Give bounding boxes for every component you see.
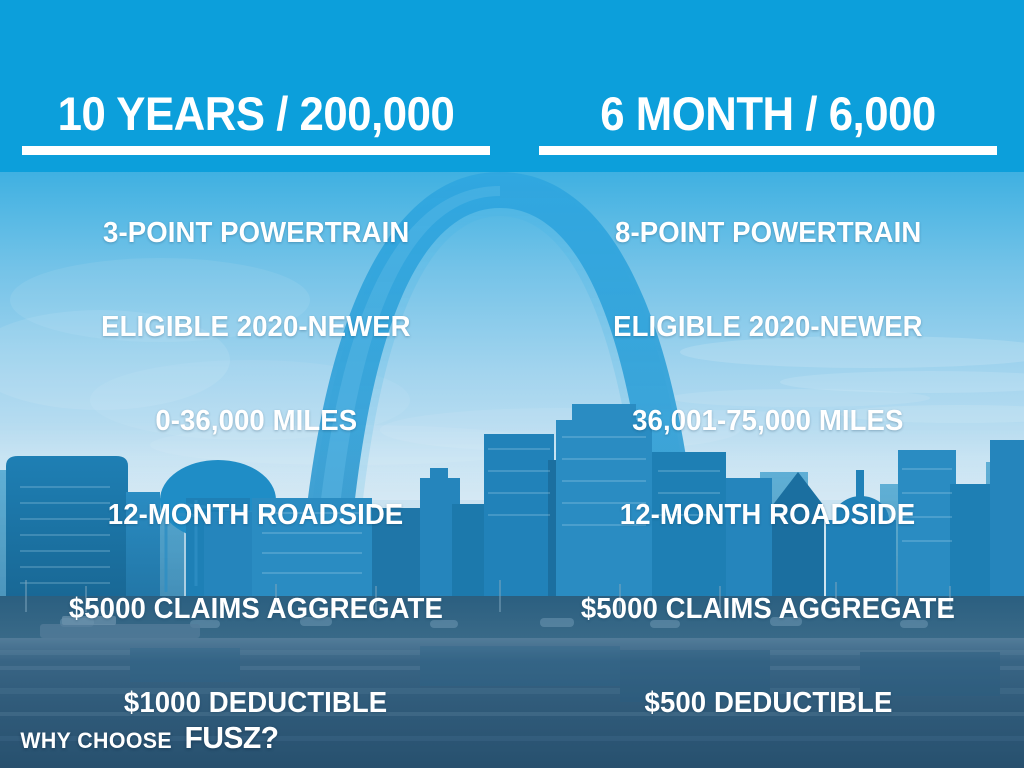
plan-heading-text: 10 YEARS / 200,000 — [18, 88, 494, 140]
feature-text: $1000 DEDUCTIBLE — [124, 687, 387, 720]
brand-lockup: WHY CHOOSE FUSZ? — [18, 720, 280, 756]
list-item: $5000 CLAIMS AGGREGATE — [0, 562, 512, 656]
feature-text: ELIGIBLE 2020-NEWER — [613, 311, 923, 344]
list-item: 0-36,000 MILES — [0, 374, 512, 468]
feature-text: 0-36,000 MILES — [155, 405, 357, 438]
slide-canvas: 10 YEARS / 200,000 3-POINT POWERTRAIN EL… — [0, 0, 1024, 768]
list-item: 12-MONTH ROADSIDE — [0, 468, 512, 562]
feature-text: $500 DEDUCTIBLE — [644, 687, 892, 720]
brand-name: FUSZ? — [185, 720, 279, 756]
list-item: ELIGIBLE 2020-NEWER — [0, 280, 512, 374]
feature-text: $5000 CLAIMS AGGREGATE — [69, 593, 443, 626]
feature-text: ELIGIBLE 2020-NEWER — [101, 311, 411, 344]
feature-text: $5000 CLAIMS AGGREGATE — [581, 593, 955, 626]
list-item: 3-POINT POWERTRAIN — [0, 186, 512, 280]
plan-feature-list-6-month: 8-POINT POWERTRAIN ELIGIBLE 2020-NEWER 3… — [512, 186, 1024, 750]
plan-heading-6-month: 6 MONTH / 6,000 — [512, 88, 1024, 155]
plan-feature-list-10-year: 3-POINT POWERTRAIN ELIGIBLE 2020-NEWER 0… — [0, 186, 512, 750]
list-item: $500 DEDUCTIBLE — [512, 656, 1024, 750]
plan-column-10-year: 10 YEARS / 200,000 3-POINT POWERTRAIN EL… — [0, 0, 512, 768]
heading-underline — [22, 146, 490, 155]
list-item: ELIGIBLE 2020-NEWER — [512, 280, 1024, 374]
plan-heading-10-year: 10 YEARS / 200,000 — [0, 88, 512, 155]
feature-text: 8-POINT POWERTRAIN — [615, 217, 921, 250]
brand-tagline: WHY CHOOSE — [20, 728, 172, 754]
feature-text: 3-POINT POWERTRAIN — [103, 217, 409, 250]
plan-columns: 10 YEARS / 200,000 3-POINT POWERTRAIN EL… — [0, 0, 1024, 768]
list-item: $5000 CLAIMS AGGREGATE — [512, 562, 1024, 656]
feature-text: 36,001-75,000 MILES — [632, 405, 903, 438]
plan-column-6-month: 6 MONTH / 6,000 8-POINT POWERTRAIN ELIGI… — [512, 0, 1024, 768]
feature-text: 12-MONTH ROADSIDE — [108, 499, 404, 532]
plan-heading-text: 6 MONTH / 6,000 — [530, 88, 1006, 140]
list-item: 8-POINT POWERTRAIN — [512, 186, 1024, 280]
list-item: 12-MONTH ROADSIDE — [512, 468, 1024, 562]
feature-text: 12-MONTH ROADSIDE — [620, 499, 916, 532]
heading-underline — [539, 146, 997, 155]
list-item: 36,001-75,000 MILES — [512, 374, 1024, 468]
